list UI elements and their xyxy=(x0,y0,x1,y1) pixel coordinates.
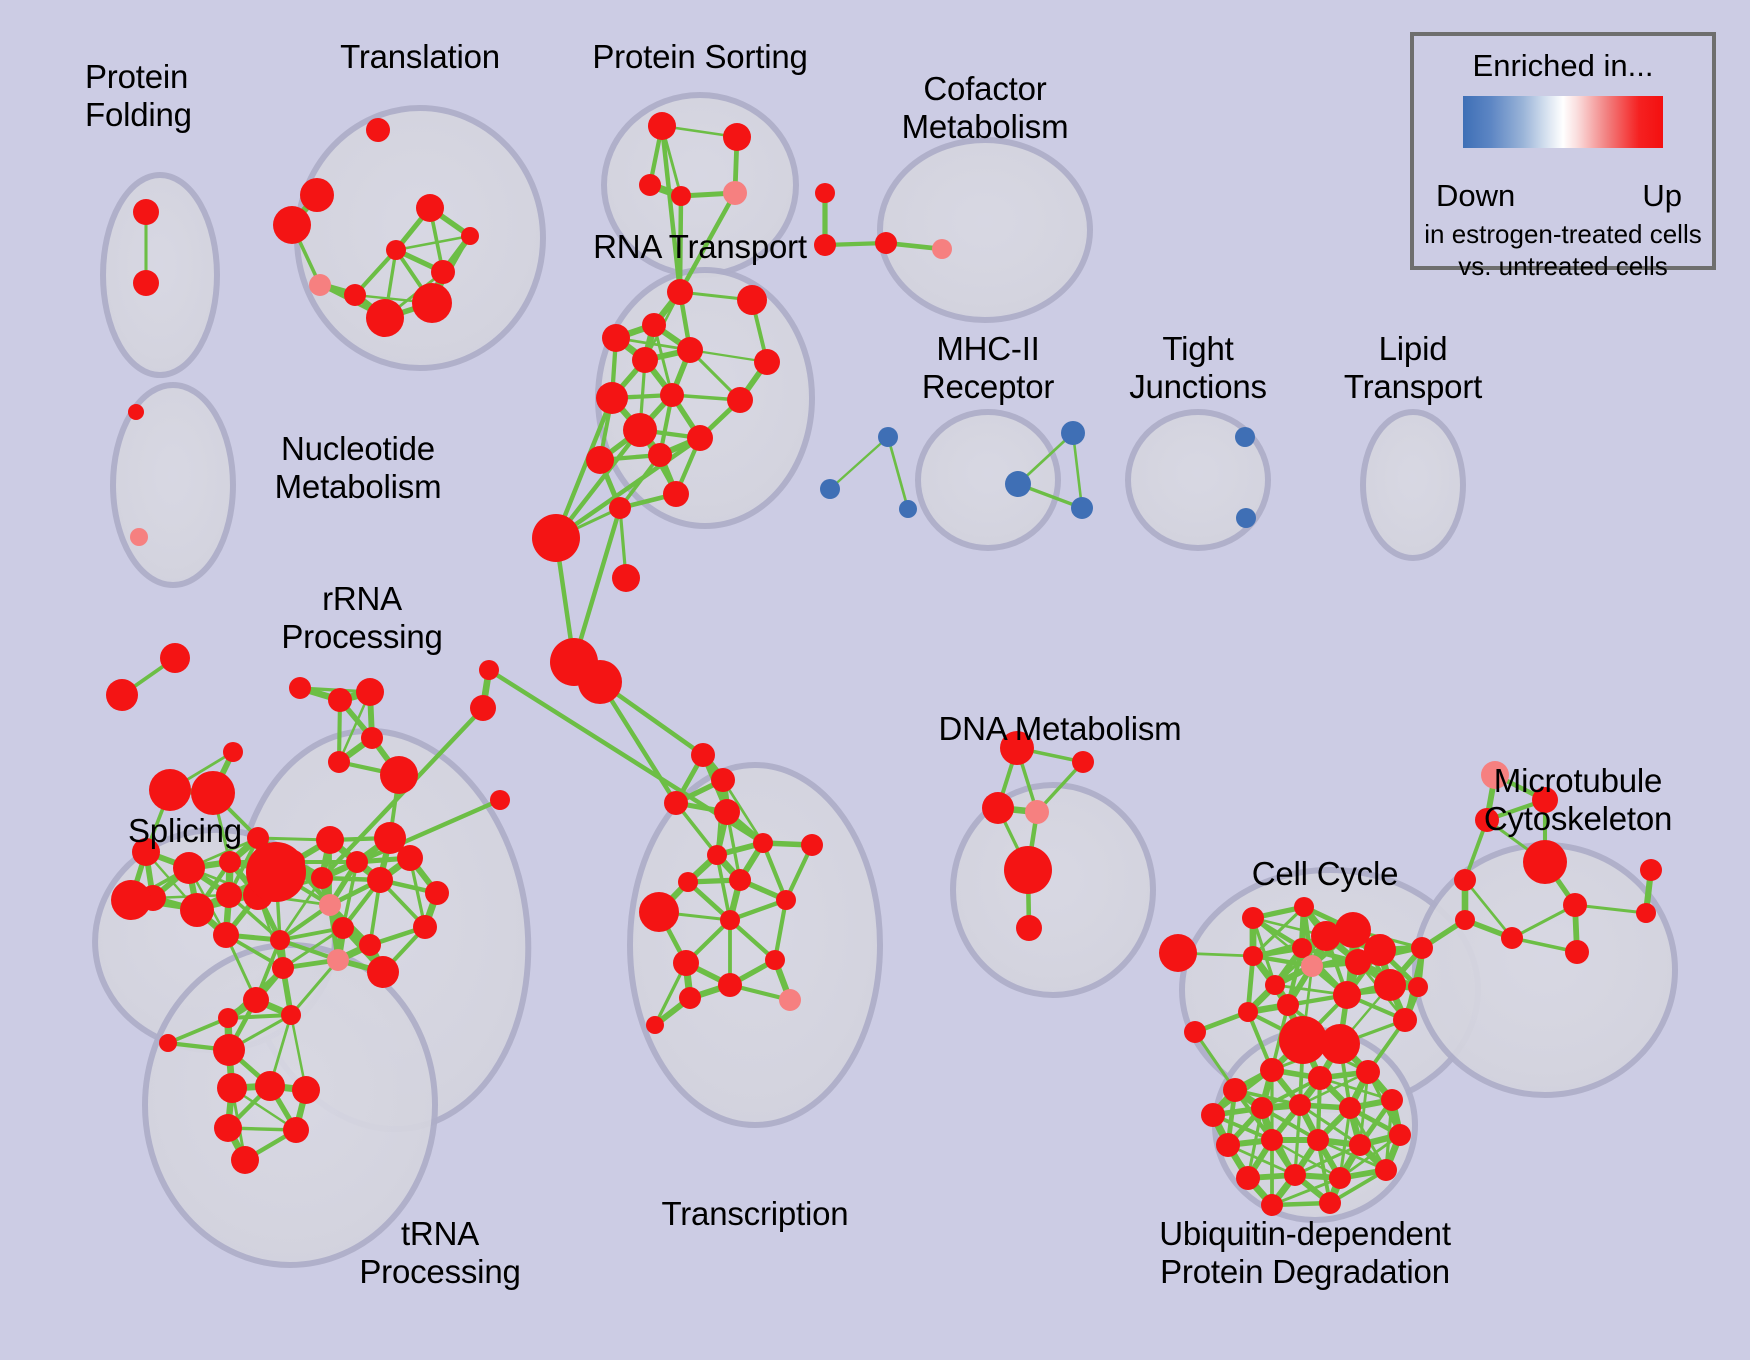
network-node[interactable] xyxy=(328,688,352,712)
network-node[interactable] xyxy=(213,1034,245,1066)
network-node[interactable] xyxy=(214,1114,242,1142)
network-node[interactable] xyxy=(1393,1008,1417,1032)
network-node[interactable] xyxy=(346,851,368,873)
cluster-label-line: Cell Cycle xyxy=(1252,855,1399,893)
network-node[interactable] xyxy=(1236,1166,1260,1190)
legend-subtitle-line2: vs. untreated cells xyxy=(1414,250,1712,282)
cluster-label-line: Nucleotide xyxy=(275,430,442,468)
network-node[interactable] xyxy=(380,756,418,794)
network-node[interactable] xyxy=(714,799,740,825)
network-node[interactable] xyxy=(133,199,159,225)
network-node[interactable] xyxy=(149,769,191,811)
network-node[interactable] xyxy=(982,792,1014,824)
network-node[interactable] xyxy=(776,890,796,910)
network-node[interactable] xyxy=(1236,508,1256,528)
network-node[interactable] xyxy=(1004,846,1052,894)
network-node[interactable] xyxy=(1216,1133,1240,1157)
network-node[interactable] xyxy=(623,413,657,447)
network-node[interactable] xyxy=(367,956,399,988)
network-node[interactable] xyxy=(413,915,437,939)
network-node[interactable] xyxy=(272,957,294,979)
network-node[interactable] xyxy=(678,872,698,892)
network-node[interactable] xyxy=(677,337,703,363)
network-node[interactable] xyxy=(532,514,580,562)
network-node[interactable] xyxy=(1408,977,1428,997)
network-node[interactable] xyxy=(671,186,691,206)
legend-title: Enriched in... xyxy=(1414,48,1712,84)
cluster-hull-translation[interactable] xyxy=(297,108,543,368)
network-node[interactable] xyxy=(281,1005,301,1025)
network-node[interactable] xyxy=(479,660,499,680)
network-node[interactable] xyxy=(219,851,241,873)
cluster-label-line: Cytoskeleton xyxy=(1484,800,1672,838)
cluster-label-mhc-ii-receptor: MHC-IIReceptor xyxy=(922,330,1054,406)
legend-subtitle: in estrogen-treated cells vs. untreated … xyxy=(1414,218,1712,282)
network-node[interactable] xyxy=(327,949,349,971)
cluster-label-line: Transport xyxy=(1344,368,1482,406)
network-node[interactable] xyxy=(111,880,151,920)
network-node[interactable] xyxy=(1307,1129,1329,1151)
cluster-label-line: Junctions xyxy=(1129,368,1267,406)
network-node[interactable] xyxy=(397,845,423,871)
cluster-label-transcription: Transcription xyxy=(662,1195,849,1233)
network-node[interactable] xyxy=(1455,910,1475,930)
network-node[interactable] xyxy=(361,727,383,749)
cluster-label-line: Lipid xyxy=(1344,330,1482,368)
network-node[interactable] xyxy=(875,232,897,254)
network-node[interactable] xyxy=(711,768,735,792)
network-node[interactable] xyxy=(648,443,672,467)
network-node[interactable] xyxy=(720,910,740,930)
network-node[interactable] xyxy=(578,660,622,704)
network-node[interactable] xyxy=(602,324,630,352)
cluster-label-line: Protein Degradation xyxy=(1159,1253,1451,1291)
network-node[interactable] xyxy=(1319,1192,1341,1214)
network-node[interactable] xyxy=(1005,471,1031,497)
network-node[interactable] xyxy=(1349,1134,1371,1156)
cluster-label-line: Processing xyxy=(281,618,442,656)
network-node[interactable] xyxy=(470,695,496,721)
network-node[interactable] xyxy=(231,1146,259,1174)
network-node[interactable] xyxy=(283,1117,309,1143)
network-node[interactable] xyxy=(1201,1103,1225,1127)
network-node[interactable] xyxy=(646,1016,664,1034)
network-node[interactable] xyxy=(255,1071,285,1101)
network-node[interactable] xyxy=(316,826,344,854)
network-node[interactable] xyxy=(243,987,269,1013)
cluster-label-line: Protein Sorting xyxy=(592,38,807,76)
network-node[interactable] xyxy=(718,973,742,997)
cluster-label-line: Translation xyxy=(340,38,500,76)
network-node[interactable] xyxy=(1640,859,1662,881)
network-node[interactable] xyxy=(1454,869,1476,891)
network-node[interactable] xyxy=(270,930,290,950)
network-node[interactable] xyxy=(753,833,773,853)
network-node[interactable] xyxy=(779,989,801,1011)
network-node[interactable] xyxy=(216,882,242,908)
network-node[interactable] xyxy=(586,446,614,474)
network-node[interactable] xyxy=(1260,1058,1284,1082)
network-node[interactable] xyxy=(1308,1066,1332,1090)
network-node[interactable] xyxy=(133,270,159,296)
network-node[interactable] xyxy=(754,349,780,375)
cluster-hull-dna-metabolism[interactable] xyxy=(953,785,1153,995)
cluster-label-line: Processing xyxy=(359,1253,520,1291)
cluster-label-dna-metabolism: DNA Metabolism xyxy=(939,710,1182,748)
network-node[interactable] xyxy=(332,917,354,939)
network-node[interactable] xyxy=(1375,1159,1397,1181)
cluster-label-line: Protein xyxy=(85,58,192,96)
network-node[interactable] xyxy=(737,285,767,315)
cluster-label-line: Metabolism xyxy=(902,108,1069,146)
network-node[interactable] xyxy=(639,174,661,196)
cluster-label-line: Microtubule xyxy=(1484,762,1672,800)
network-node[interactable] xyxy=(1411,937,1433,959)
network-node[interactable] xyxy=(687,425,713,451)
network-node[interactable] xyxy=(180,893,214,927)
network-node[interactable] xyxy=(765,950,785,970)
network-node[interactable] xyxy=(639,892,679,932)
network-edge xyxy=(888,437,908,509)
network-node[interactable] xyxy=(386,240,406,260)
legend-subtitle-line1: in estrogen-treated cells xyxy=(1414,218,1712,250)
network-node[interactable] xyxy=(679,987,701,1009)
cluster-label-line: tRNA xyxy=(359,1215,520,1253)
network-node[interactable] xyxy=(1329,1167,1351,1189)
cluster-label-line: Metabolism xyxy=(275,468,442,506)
network-node[interactable] xyxy=(1335,912,1371,948)
cluster-label-line: rRNA xyxy=(281,580,442,618)
network-node[interactable] xyxy=(356,678,384,706)
cluster-label-line: Receptor xyxy=(922,368,1054,406)
network-node[interactable] xyxy=(932,239,952,259)
color-gradient-bar xyxy=(1463,96,1663,148)
network-node[interactable] xyxy=(1223,1078,1247,1102)
cluster-label-line: Cofactor xyxy=(902,70,1069,108)
network-node[interactable] xyxy=(1251,1097,1273,1119)
cluster-label-line: DNA Metabolism xyxy=(939,710,1182,748)
cluster-label-rna-transport: RNA Transport xyxy=(593,228,807,266)
network-node[interactable] xyxy=(311,867,333,889)
network-node[interactable] xyxy=(367,867,393,893)
cluster-label-line: Tight xyxy=(1129,330,1267,368)
network-node[interactable] xyxy=(289,677,311,699)
cluster-hull-cofactor-metabolism[interactable] xyxy=(880,140,1090,320)
network-node[interactable] xyxy=(815,183,835,203)
network-node[interactable] xyxy=(1284,1164,1306,1186)
network-node[interactable] xyxy=(1389,1124,1411,1146)
network-node[interactable] xyxy=(667,279,693,305)
network-node[interactable] xyxy=(213,922,239,948)
cluster-label-line: Folding xyxy=(85,96,192,134)
network-node[interactable] xyxy=(1261,1129,1283,1151)
network-node[interactable] xyxy=(273,206,311,244)
network-node[interactable] xyxy=(416,194,444,222)
legend-down-label: Down xyxy=(1436,178,1515,214)
network-node[interactable] xyxy=(1238,1002,1258,1022)
cluster-label-lipid-transport: LipidTransport xyxy=(1344,330,1482,406)
network-node[interactable] xyxy=(1061,421,1085,445)
network-node[interactable] xyxy=(160,643,190,673)
network-node[interactable] xyxy=(691,743,715,767)
network-node[interactable] xyxy=(246,842,306,902)
network-node[interactable] xyxy=(648,112,676,140)
network-node[interactable] xyxy=(130,528,148,546)
cluster-label-translation: Translation xyxy=(340,38,500,76)
network-node[interactable] xyxy=(1565,940,1589,964)
network-node[interactable] xyxy=(1301,955,1323,977)
network-node[interactable] xyxy=(1294,897,1314,917)
network-node[interactable] xyxy=(663,481,689,507)
cluster-label-microtubule-cytoskeleton: MicrotubuleCytoskeleton xyxy=(1484,762,1672,838)
network-node[interactable] xyxy=(1025,800,1049,824)
cluster-hull-lipid-transport[interactable] xyxy=(1363,412,1463,558)
network-node[interactable] xyxy=(366,299,404,337)
network-node[interactable] xyxy=(218,1008,238,1028)
network-node[interactable] xyxy=(642,313,666,337)
network-node[interactable] xyxy=(1016,915,1042,941)
network-node[interactable] xyxy=(1243,946,1263,966)
network-node[interactable] xyxy=(217,1073,247,1103)
cluster-label-cofactor-metabolism: CofactorMetabolism xyxy=(902,70,1069,146)
network-node[interactable] xyxy=(319,894,341,916)
network-node[interactable] xyxy=(1235,427,1255,447)
network-node[interactable] xyxy=(1072,751,1094,773)
network-node[interactable] xyxy=(1381,1089,1403,1111)
cluster-label-line: Transcription xyxy=(662,1195,849,1233)
cluster-label-trna-processing: tRNAProcessing xyxy=(359,1215,520,1291)
network-node[interactable] xyxy=(1374,969,1406,1001)
network-node[interactable] xyxy=(899,500,917,518)
network-node[interactable] xyxy=(1292,938,1312,958)
cluster-label-splicing: Splicing xyxy=(128,812,242,850)
network-node[interactable] xyxy=(1071,497,1093,519)
network-node[interactable] xyxy=(660,383,684,407)
network-node[interactable] xyxy=(425,881,449,905)
network-node[interactable] xyxy=(292,1076,320,1104)
network-node[interactable] xyxy=(366,118,390,142)
network-node[interactable] xyxy=(1523,840,1567,884)
network-node[interactable] xyxy=(1159,934,1197,972)
network-node[interactable] xyxy=(300,178,334,212)
network-node[interactable] xyxy=(223,742,243,762)
network-node[interactable] xyxy=(1242,907,1264,929)
network-node[interactable] xyxy=(128,404,144,420)
cluster-label-protein-folding: ProteinFolding xyxy=(85,58,192,134)
network-node[interactable] xyxy=(596,382,628,414)
cluster-label-ubiquitin-protein-degradation: Ubiquitin-dependentProtein Degradation xyxy=(1159,1215,1451,1291)
cluster-hull-protein-folding[interactable] xyxy=(103,175,217,375)
network-node[interactable] xyxy=(1184,1021,1206,1043)
network-node[interactable] xyxy=(723,123,751,151)
network-node[interactable] xyxy=(461,227,479,245)
network-node[interactable] xyxy=(191,771,235,815)
network-edge-bridge xyxy=(574,508,620,662)
network-node[interactable] xyxy=(1333,981,1361,1009)
network-node[interactable] xyxy=(612,564,640,592)
network-node[interactable] xyxy=(609,497,631,519)
network-node[interactable] xyxy=(707,845,727,865)
cluster-hull-mhc-ii-receptor[interactable] xyxy=(918,412,1058,548)
network-node[interactable] xyxy=(159,1034,177,1052)
network-node[interactable] xyxy=(359,934,381,956)
network-node[interactable] xyxy=(878,427,898,447)
network-node[interactable] xyxy=(431,260,455,284)
network-node[interactable] xyxy=(723,181,747,205)
network-node[interactable] xyxy=(1277,994,1299,1016)
network-node[interactable] xyxy=(801,834,823,856)
cluster-label-protein-sorting: Protein Sorting xyxy=(592,38,807,76)
network-node[interactable] xyxy=(1636,903,1656,923)
cluster-label-line: Splicing xyxy=(128,812,242,850)
legend-up-label: Up xyxy=(1642,178,1682,214)
network-node[interactable] xyxy=(309,274,331,296)
legend-panel: Enriched in... Down Up in estrogen-treat… xyxy=(1410,32,1716,270)
network-node[interactable] xyxy=(664,791,688,815)
cluster-label-rrna-processing: rRNAProcessing xyxy=(281,580,442,656)
network-node[interactable] xyxy=(490,790,510,810)
network-node[interactable] xyxy=(1265,975,1285,995)
cluster-label-nucleotide-metabolism: NucleotideMetabolism xyxy=(275,430,442,506)
cluster-label-line: RNA Transport xyxy=(593,228,807,266)
network-node[interactable] xyxy=(1320,1024,1360,1064)
network-node[interactable] xyxy=(632,347,658,373)
network-node[interactable] xyxy=(1501,927,1523,949)
enrichment-map-canvas: ProteinFoldingTranslationProtein Sorting… xyxy=(0,0,1750,1360)
network-node[interactable] xyxy=(1339,1097,1361,1119)
network-node[interactable] xyxy=(344,284,366,306)
cluster-label-tight-junctions: TightJunctions xyxy=(1129,330,1267,406)
network-node[interactable] xyxy=(814,234,836,256)
cluster-label-line: Ubiquitin-dependent xyxy=(1159,1215,1451,1253)
cluster-label-cell-cycle: Cell Cycle xyxy=(1252,855,1399,893)
network-node[interactable] xyxy=(106,679,138,711)
network-node[interactable] xyxy=(412,283,452,323)
network-node[interactable] xyxy=(729,869,751,891)
network-node[interactable] xyxy=(820,479,840,499)
cluster-label-line: MHC-II xyxy=(922,330,1054,368)
network-node[interactable] xyxy=(673,950,699,976)
network-node[interactable] xyxy=(1364,934,1396,966)
network-edge xyxy=(830,437,888,489)
network-node[interactable] xyxy=(727,387,753,413)
network-node[interactable] xyxy=(1356,1060,1380,1084)
network-node[interactable] xyxy=(1563,893,1587,917)
network-node[interactable] xyxy=(1279,1016,1327,1064)
network-node[interactable] xyxy=(328,751,350,773)
network-node[interactable] xyxy=(1261,1194,1283,1216)
network-node[interactable] xyxy=(1289,1094,1311,1116)
network-node[interactable] xyxy=(173,852,205,884)
